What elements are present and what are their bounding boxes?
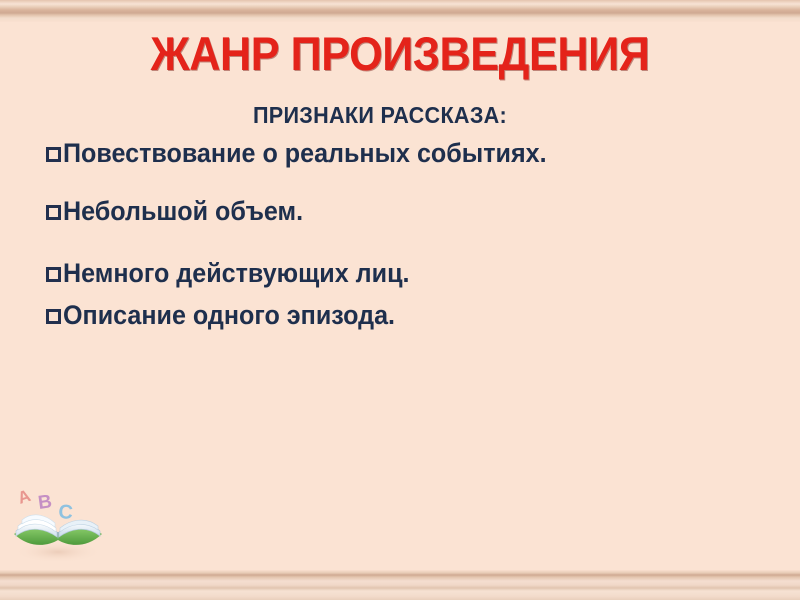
checkbox-square-icon xyxy=(46,205,61,220)
checkbox-square-icon xyxy=(46,147,61,162)
list-item: Небольшой объем. xyxy=(46,198,746,225)
decorative-bottom-border xyxy=(0,570,800,600)
slide-canvas: ЖАНР ПРОИЗВЕДЕНИЯ ПРИЗНАКИ РАССКАЗА: Пов… xyxy=(0,0,800,600)
svg-text:B: B xyxy=(37,491,54,514)
list-item: Повествование о реальных событиях. xyxy=(46,140,746,167)
list-item: Немного действующих лиц. xyxy=(46,260,746,287)
checkbox-square-icon xyxy=(46,267,61,282)
page-title: ЖАНР ПРОИЗВЕДЕНИЯ xyxy=(32,26,768,81)
list-item-label: Немного действующих лиц. xyxy=(63,260,409,287)
list-item-label: Описание одного эпизода. xyxy=(63,302,395,329)
subtitle-heading: ПРИЗНАКИ РАССКАЗА: xyxy=(23,102,737,129)
decorative-top-border xyxy=(0,0,800,22)
checkbox-square-icon xyxy=(46,309,61,324)
bullet-list: Повествование о реальных событиях. Небол… xyxy=(46,140,746,329)
svg-text:C: C xyxy=(58,501,74,524)
abc-open-book-illustration: A B C xyxy=(6,478,110,570)
list-item-label: Небольшой объем. xyxy=(63,198,303,225)
svg-text:A: A xyxy=(15,486,33,508)
list-item: Описание одного эпизода. xyxy=(46,302,746,329)
list-item-label: Повествование о реальных событиях. xyxy=(63,140,547,167)
